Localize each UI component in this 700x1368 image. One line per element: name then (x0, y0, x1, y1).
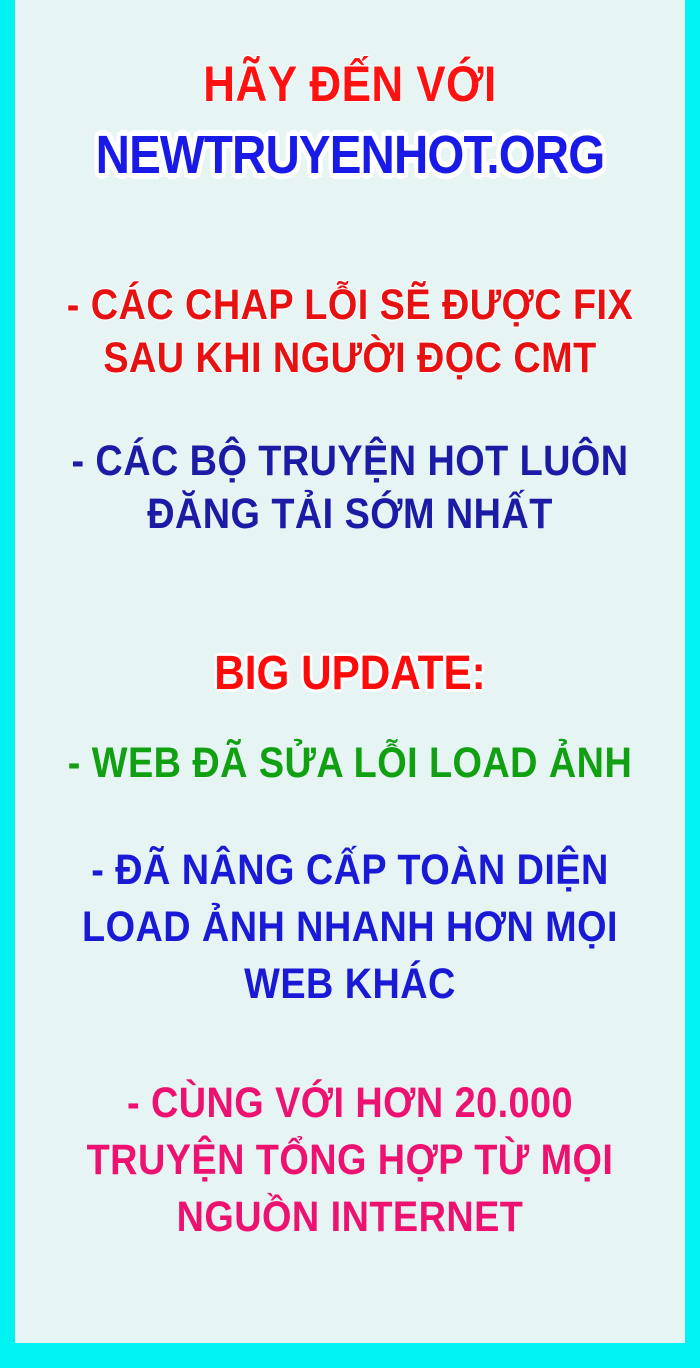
full-upgrade-line-1: - ĐÃ NÂNG CẤP TOÀN DIỆN (55, 842, 645, 899)
library-size-line-2: TRUYỆN TỔNG HỢP TỪ MỌI (55, 1132, 645, 1189)
invite-headline: HÃY ĐẾN VỚI (55, 55, 645, 113)
library-size-line-1: - CÙNG VỚI HƠN 20.000 (55, 1075, 645, 1132)
site-name-headline[interactable]: NEWTRUYENHOT.ORG (55, 123, 645, 187)
image-load-fix-block: - WEB ĐÃ SỬA LỖI LOAD ẢNH (15, 737, 685, 790)
fix-notice-line-1: - CÁC CHAP LỖI SẼ ĐƯỢC FIX (55, 279, 645, 332)
fix-notice-block: - CÁC CHAP LỖI SẼ ĐƯỢC FIX SAU KHI NGƯỜI… (15, 279, 685, 385)
headline-block: HÃY ĐẾN VỚI NEWTRUYENHOT.ORG (15, 55, 685, 187)
full-upgrade-line-3: WEB KHÁC (55, 956, 645, 1013)
hot-series-notice-line-1: - CÁC BỘ TRUYỆN HOT LUÔN (55, 435, 645, 488)
hot-series-notice-block: - CÁC BỘ TRUYỆN HOT LUÔN ĐĂNG TẢI SỚM NH… (15, 435, 685, 541)
image-load-fix-line-1: - WEB ĐÃ SỬA LỖI LOAD ẢNH (55, 737, 645, 790)
big-update-heading-block: BIG UPDATE: (15, 646, 685, 702)
library-size-block: - CÙNG VỚI HƠN 20.000 TRUYỆN TỔNG HỢP TỪ… (15, 1075, 685, 1246)
big-update-heading: BIG UPDATE: (55, 646, 645, 702)
promo-card: HÃY ĐẾN VỚI NEWTRUYENHOT.ORG - CÁC CHAP … (15, 0, 685, 1343)
fix-notice-line-2: SAU KHI NGƯỜI ĐỌC CMT (55, 332, 645, 385)
library-size-line-3: NGUỒN INTERNET (55, 1189, 645, 1246)
full-upgrade-line-2: LOAD ẢNH NHANH HƠN MỌI (55, 899, 645, 956)
hot-series-notice-line-2: ĐĂNG TẢI SỚM NHẤT (55, 488, 645, 541)
full-upgrade-block: - ĐÃ NÂNG CẤP TOÀN DIỆN LOAD ẢNH NHANH H… (15, 842, 685, 1013)
promo-banner-frame: HÃY ĐẾN VỚI NEWTRUYENHOT.ORG - CÁC CHAP … (0, 0, 700, 1368)
